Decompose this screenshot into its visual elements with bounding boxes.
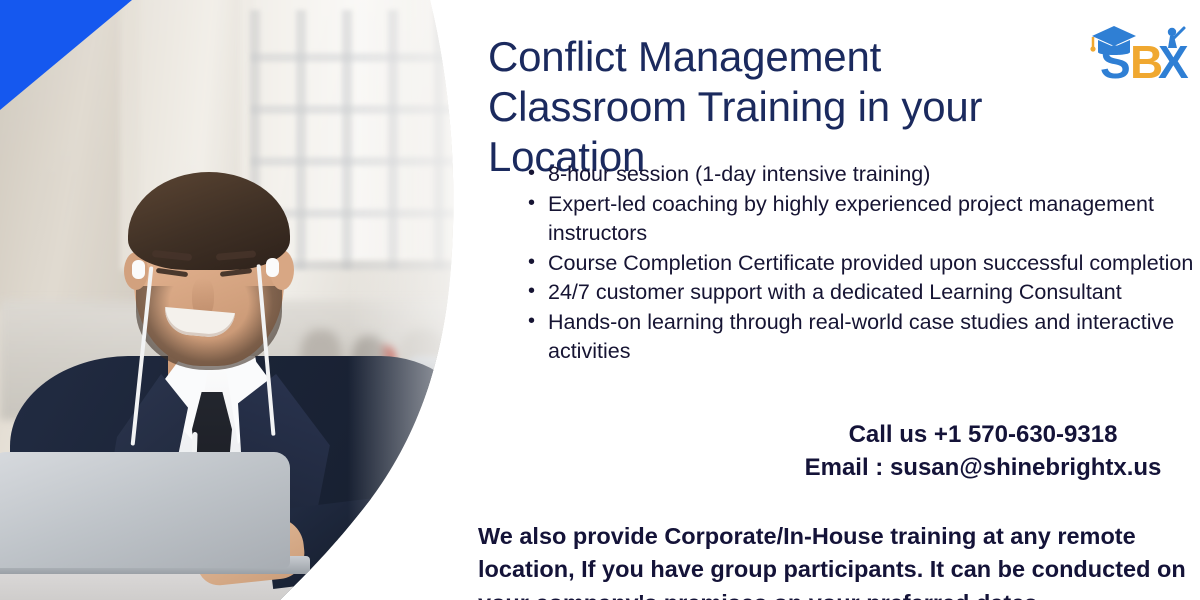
laptop-screen: [0, 452, 290, 568]
logo-letter-s: S: [1100, 36, 1131, 86]
phone-line[interactable]: Call us +1 570-630-9318: [778, 418, 1188, 451]
list-item: Expert-led coaching by highly experience…: [526, 190, 1196, 249]
hero-photo: [0, 0, 470, 600]
email-line[interactable]: Email : susan@shinebrightx.us: [778, 451, 1188, 484]
sbx-logo-svg: S B X: [1084, 14, 1192, 86]
feature-list: 8-hour session (1-day intensive training…: [526, 160, 1196, 367]
list-item: 8-hour session (1-day intensive training…: [526, 160, 1196, 190]
chair-leg: [410, 416, 422, 566]
contact-block: Call us +1 570-630-9318 Email : susan@sh…: [778, 418, 1188, 484]
list-item: 24/7 customer support with a dedicated L…: [526, 278, 1196, 308]
list-item: Course Completion Certificate provided u…: [526, 249, 1196, 279]
earbud-right: [266, 258, 279, 277]
corporate-training-note: We also provide Corporate/In-House train…: [478, 520, 1196, 600]
list-item: Hands-on learning through real-world cas…: [526, 308, 1196, 367]
earbud-left: [132, 260, 145, 279]
content-column: S B X Conflict Management Classroom Trai…: [478, 0, 1200, 600]
event-poster: S B X Conflict Management Classroom Trai…: [0, 0, 1200, 600]
sbx-logo: S B X: [1084, 14, 1192, 86]
